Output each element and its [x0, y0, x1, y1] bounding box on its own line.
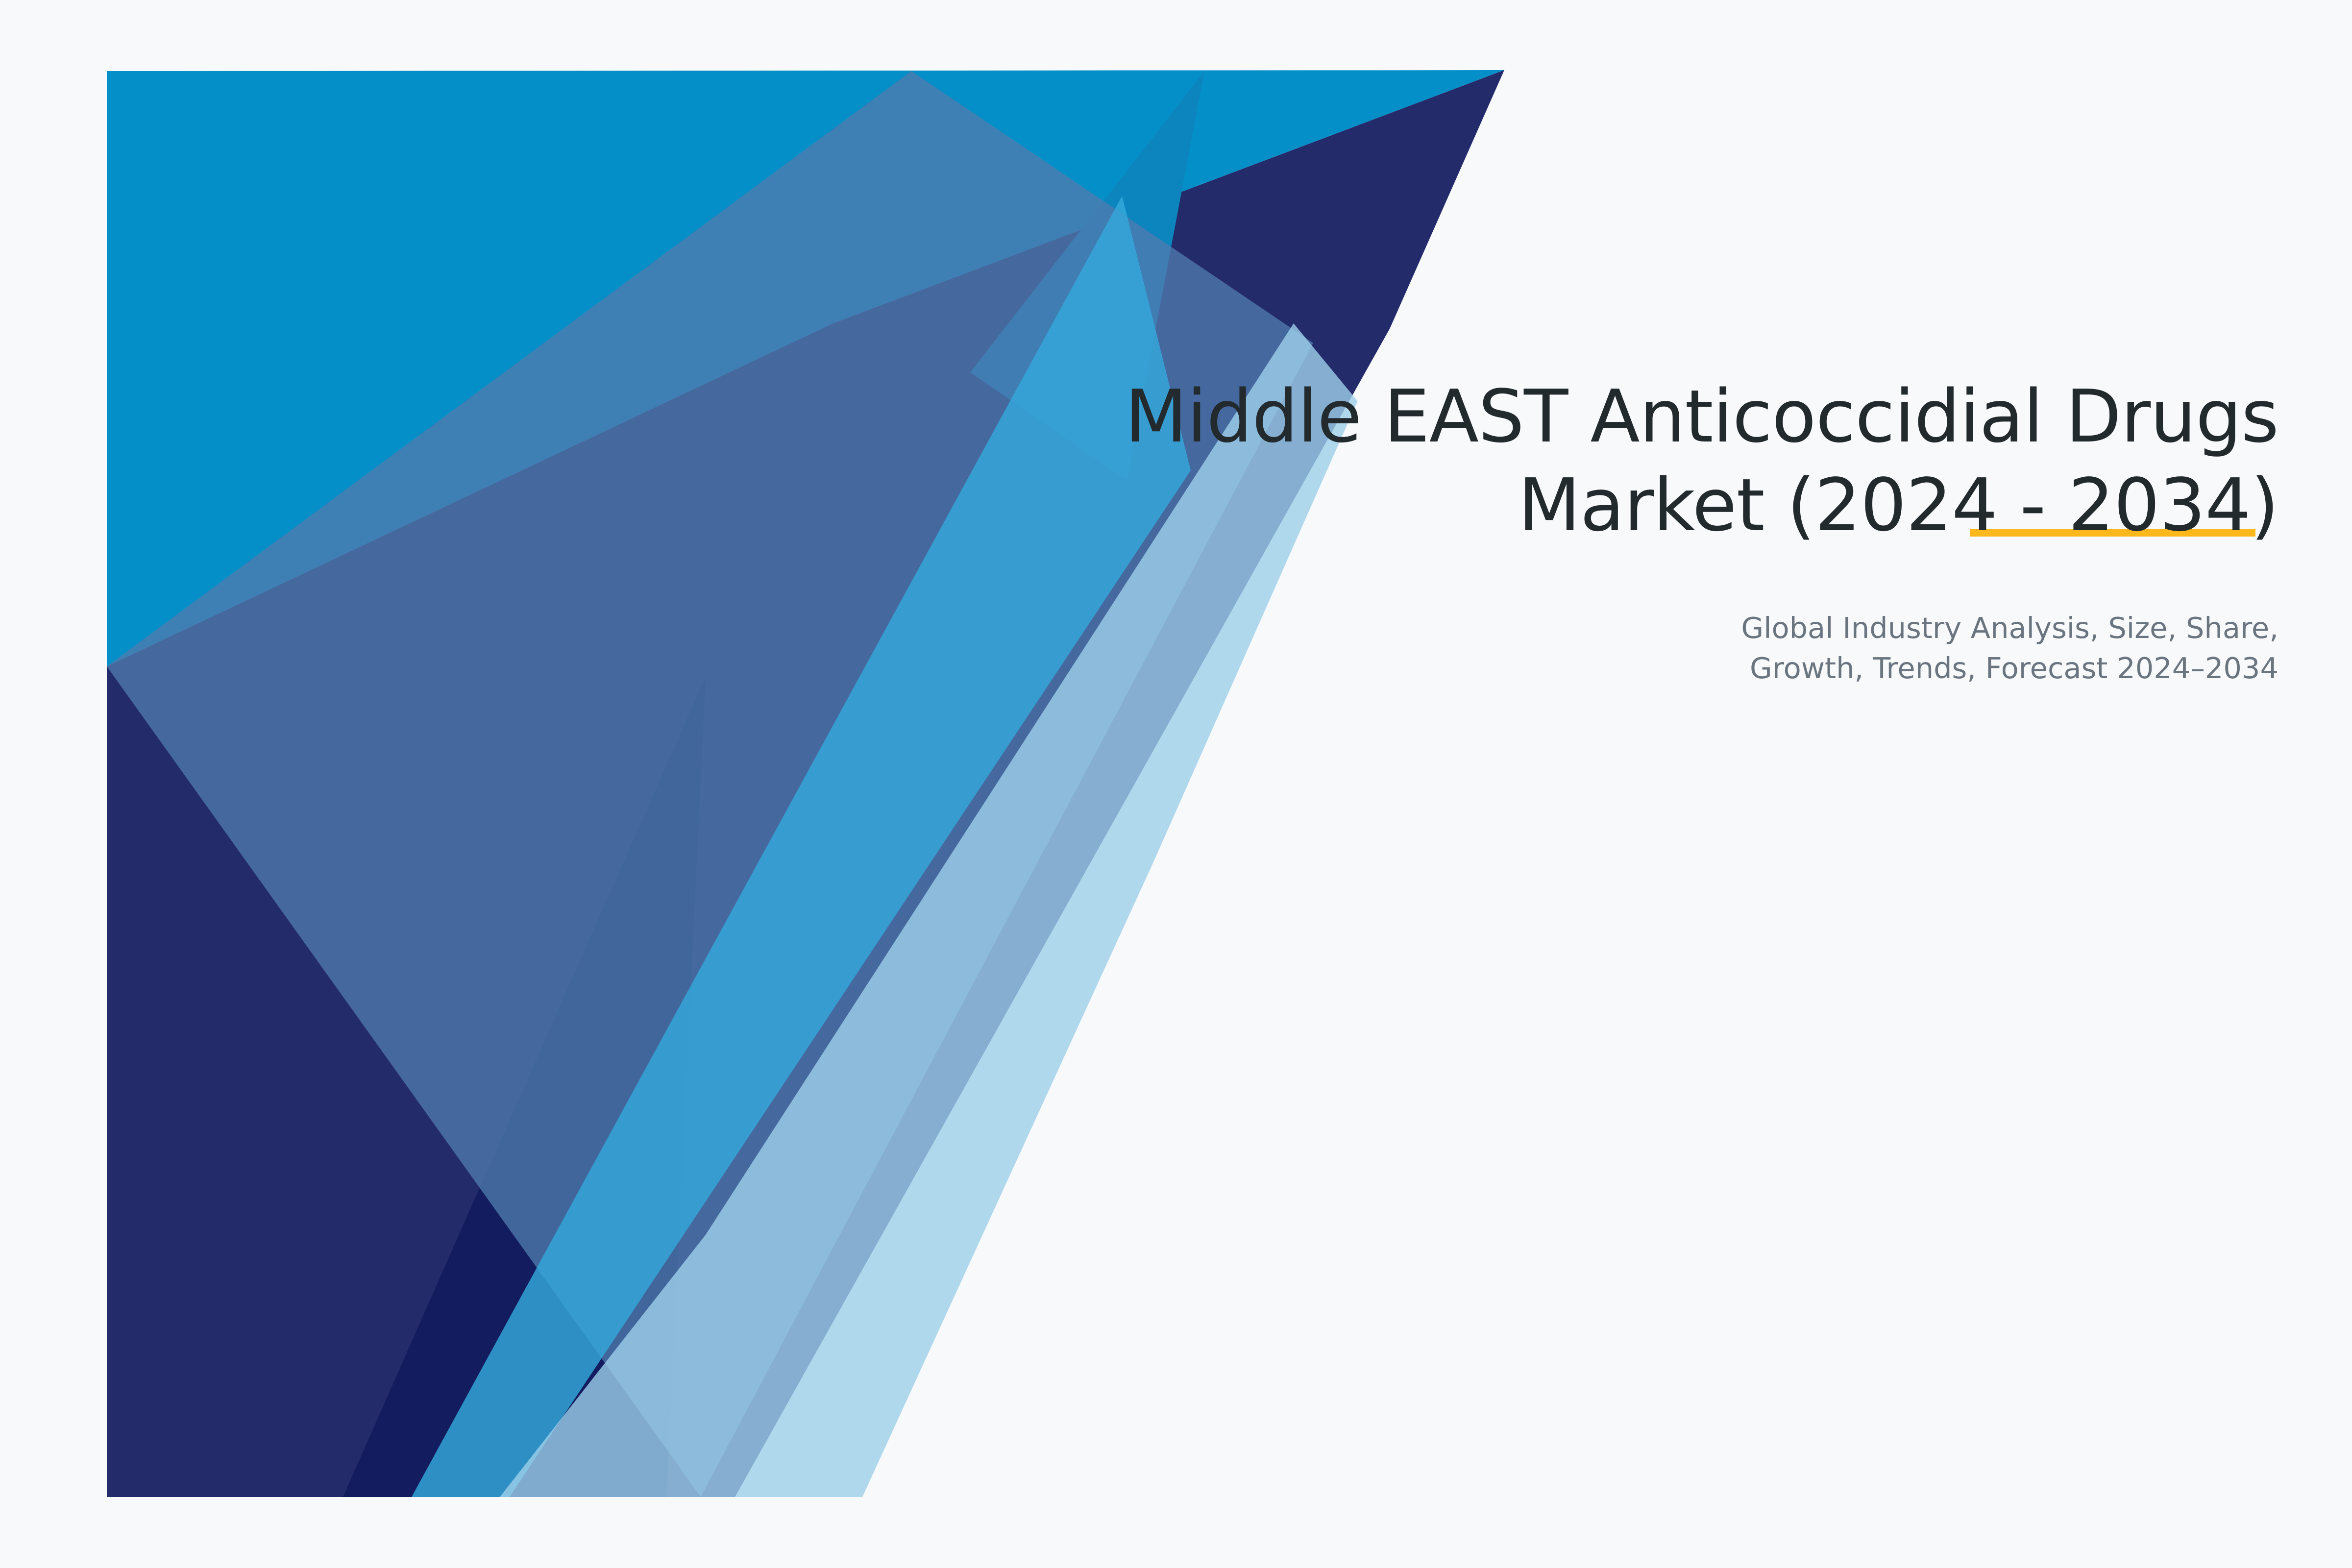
- report-text-block: Middle EAST Anticoccidial Drugs Market (…: [955, 372, 2278, 688]
- abstract-geometric-artwork: [0, 0, 2352, 1568]
- title-wrap: Middle EAST Anticoccidial Drugs Market (…: [955, 372, 2278, 549]
- page-title: Middle EAST Anticoccidial Drugs Market (…: [955, 372, 2278, 549]
- report-cover-page: Middle EAST Anticoccidial Drugs Market (…: [0, 0, 2352, 1568]
- page-subtitle: Global Industry Analysis, Size, Share, G…: [955, 549, 2278, 688]
